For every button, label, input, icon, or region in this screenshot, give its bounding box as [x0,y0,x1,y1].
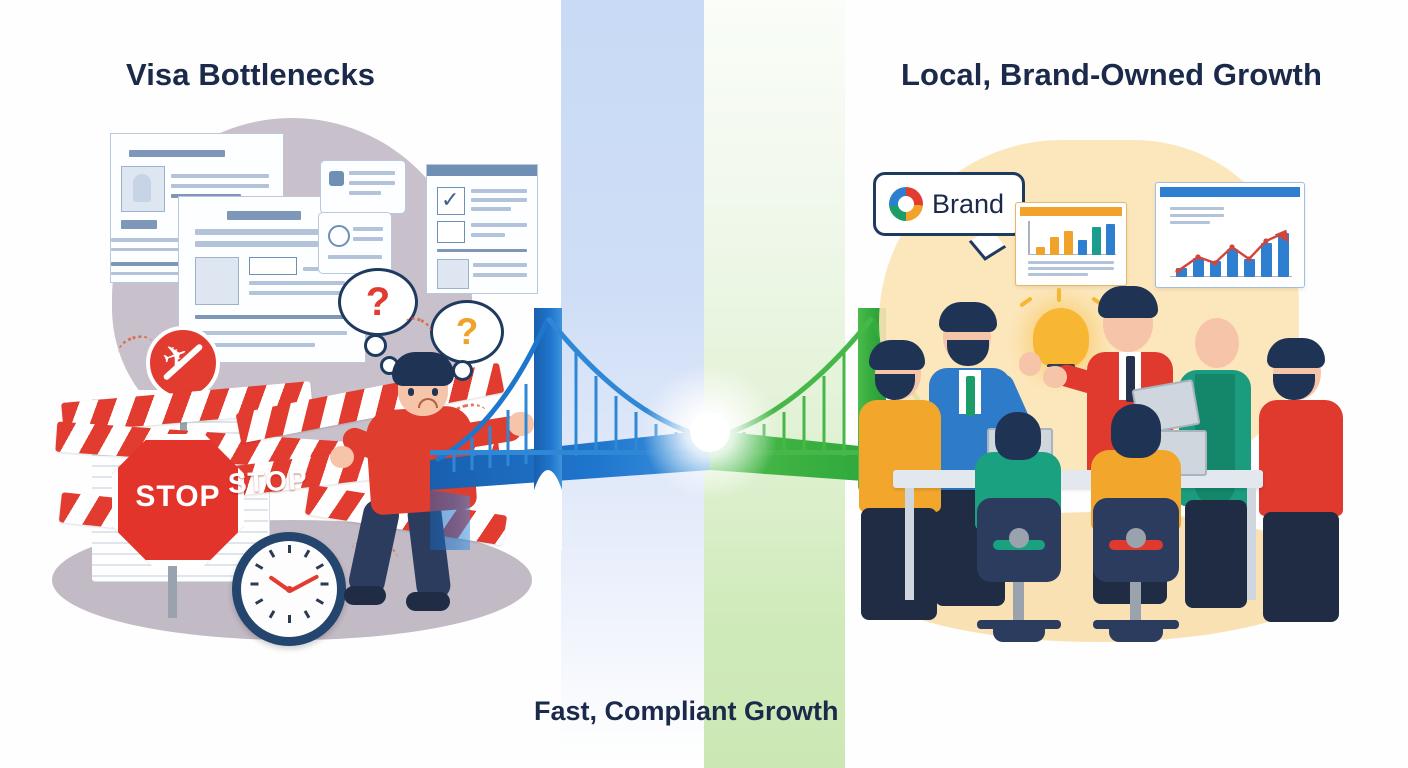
chart-bar [1050,237,1059,255]
brand-speech-bubble: Brand [873,172,1025,236]
chair-hub [1009,528,1029,548]
person-eye [408,388,414,396]
brand-label: Brand [932,189,1004,220]
meeting-table [893,470,1263,488]
note-card-bottom [318,212,392,274]
thought-bubble-dot [364,334,387,357]
brand-ring-logo [889,187,923,221]
tie [966,376,975,416]
chart-plot [1170,229,1292,277]
team-member-hand [1043,366,1067,388]
table-leg [1247,488,1256,600]
chair-hub [1126,528,1146,548]
chart-bar [1092,227,1101,255]
seated-person-head [1111,404,1161,458]
team-member-hair [939,302,997,332]
chair-base [1109,620,1163,642]
team-member-torso [859,400,941,512]
note-card-top [320,160,406,214]
growth-chart-card [1155,182,1305,288]
clock-minute-hand [288,574,319,593]
checkmark-icon: ✓ [441,189,459,211]
local-growth-scene: Brand [843,0,1408,768]
team-member-hair [869,340,925,370]
bottom-caption: Fast, Compliant Growth [534,696,839,727]
chair-base [993,620,1045,642]
team-member-hair [1098,286,1158,318]
infographic-canvas: ✓ ✈ STOP [0,0,1408,768]
chart-bar [1106,224,1115,255]
person-hand-left [330,446,354,468]
team-member-hand [1019,352,1041,376]
person-shoe-left [344,586,386,605]
stop-sign-label: STOP [118,480,238,514]
growth-trendline [1170,229,1292,277]
table-leg [905,488,914,600]
no-flight-icon: ✈ [146,326,220,400]
seated-person-head [995,412,1041,460]
checklist-document: ✓ [426,164,538,294]
team-member-legs [1263,512,1339,622]
team-member-hair [1267,338,1325,368]
team-member-head [1195,318,1239,368]
chart-bar [1064,231,1073,255]
lightbulb-icon [1033,308,1089,368]
chart-bar [1078,240,1087,255]
chart-bar [1036,247,1045,255]
wall-clock [232,532,346,646]
chart-plot [1028,221,1116,255]
card-title-bar [1020,207,1122,216]
page-title-right: Local, Brand-Owned Growth [901,57,1322,93]
page-title-left: Visa Bottlenecks [126,57,375,93]
team-member-legs [1185,500,1247,608]
bar-chart-card [1015,202,1127,286]
idea-ray [1057,288,1061,302]
team-member-legs [861,508,937,620]
question-mark-red: ? [366,280,390,325]
barrier-stop-label: STOP [227,464,308,500]
card-title-bar [1160,187,1300,197]
team-member-torso [1259,400,1343,516]
clock-center-pin [286,586,293,593]
